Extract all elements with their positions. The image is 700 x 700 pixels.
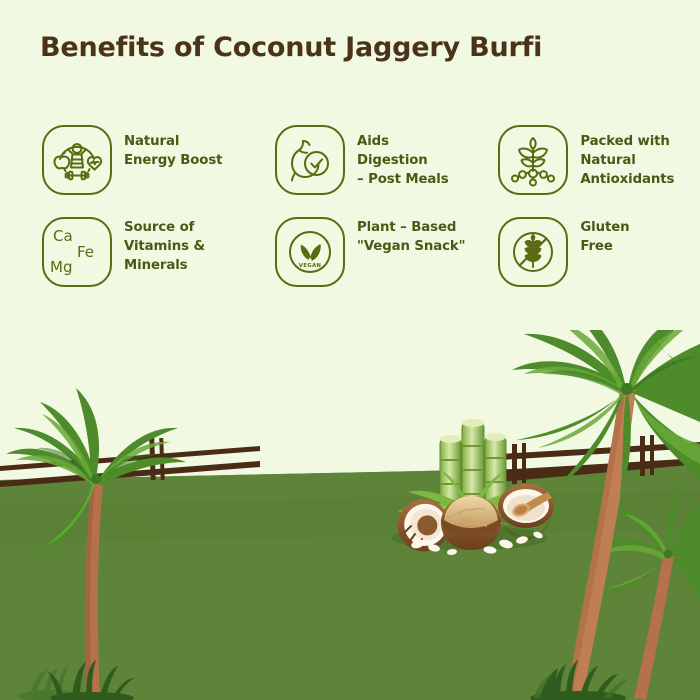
crossed-wheat-icon: [498, 217, 568, 287]
benefit-item-vitamins-minerals[interactable]: Ca Fe Mg Source of Vitamins & Minerals: [0, 217, 253, 287]
benefit-label: Packed with Natural Antioxidants: [580, 125, 674, 190]
benefits-row-1: Natural Energy Boost Aids Digestion – Po…: [0, 125, 700, 195]
mineral-symbol-ca: Ca: [53, 227, 73, 245]
energy-person-dumbbell-icon: [42, 125, 112, 195]
minerals-symbols-icon: Ca Fe Mg: [42, 217, 112, 287]
leaf-berries-icon: [498, 125, 568, 195]
benefit-label: Natural Energy Boost: [124, 125, 222, 171]
vegan-badge-icon: VEGAN: [275, 217, 345, 287]
stomach-check-icon: [275, 125, 345, 195]
jaggery-bowl: [441, 496, 501, 550]
benefits-row-2: Ca Fe Mg Source of Vitamins & Minerals V…: [0, 217, 700, 287]
benefit-label: Source of Vitamins & Minerals: [124, 217, 205, 276]
coconut-sugarcane-landscape: [0, 330, 700, 700]
mineral-symbol-fe: Fe: [77, 243, 94, 261]
page-title: Benefits of Coconut Jaggery Burfi: [40, 32, 542, 63]
benefit-label: Aids Digestion – Post Meals: [357, 125, 449, 190]
benefit-item-plant-based-vegan[interactable]: VEGAN Plant – Based "Vegan Snack": [253, 217, 481, 287]
benefit-item-natural-energy-boost[interactable]: Natural Energy Boost: [0, 125, 253, 195]
benefit-item-gluten-free[interactable]: Gluten Free: [481, 217, 700, 287]
infographic-canvas: Benefits of Coconut Jaggery Burfi: [0, 0, 700, 700]
benefit-item-aids-digestion[interactable]: Aids Digestion – Post Meals: [253, 125, 481, 195]
benefit-label: Plant – Based "Vegan Snack": [357, 217, 465, 257]
vegan-badge-text: VEGAN: [299, 263, 322, 269]
benefit-label: Gluten Free: [580, 217, 629, 257]
benefits-grid: Natural Energy Boost Aids Digestion – Po…: [0, 125, 700, 287]
benefit-item-natural-antioxidants[interactable]: Packed with Natural Antioxidants: [481, 125, 700, 195]
mineral-symbol-mg: Mg: [50, 258, 72, 276]
